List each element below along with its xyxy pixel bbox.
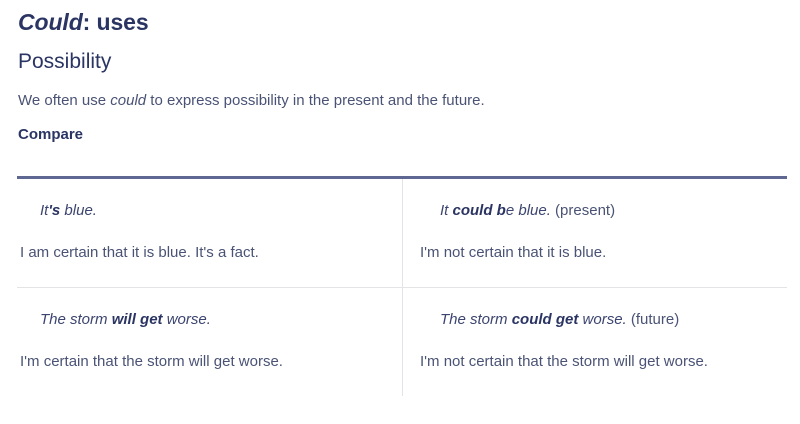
example-prefix: The storm bbox=[440, 311, 512, 328]
example-highlight: 's bbox=[48, 202, 60, 219]
example-sentence: It's blue. bbox=[20, 201, 388, 221]
page-title-term: Could bbox=[18, 9, 83, 35]
compare-label: Compare bbox=[13, 111, 787, 145]
intro-paragraph: We often use could to express possibilit… bbox=[13, 75, 787, 111]
example-suffix: worse. bbox=[578, 311, 626, 328]
example-sentence: The storm could get worse. (future) bbox=[420, 310, 773, 330]
example-highlight: could b bbox=[453, 202, 506, 219]
example-suffix: e blue. bbox=[506, 202, 551, 219]
tense-tag: (future) bbox=[627, 311, 680, 328]
grammar-article-page: Could: uses Possibility We often use cou… bbox=[0, 0, 800, 424]
compare-table: It's blue. I am certain that it is blue.… bbox=[17, 176, 787, 396]
example-suffix: worse. bbox=[163, 311, 211, 328]
example-sentence: It could be blue. (present) bbox=[420, 201, 773, 221]
section-heading-possibility: Possibility bbox=[13, 36, 787, 75]
page-title-rest: : uses bbox=[83, 9, 149, 35]
explanation-sentence: I'm certain that the storm will get wors… bbox=[20, 352, 388, 372]
example-prefix: It bbox=[440, 202, 453, 219]
explanation-sentence: I'm not certain that it is blue. bbox=[420, 243, 773, 263]
table-cell-certain-present: It's blue. I am certain that it is blue.… bbox=[17, 179, 402, 287]
example-highlight: could get bbox=[512, 311, 579, 328]
example-suffix: blue. bbox=[60, 202, 97, 219]
intro-text-after: to express possibility in the present an… bbox=[146, 92, 485, 109]
table-row: The storm will get worse. I'm certain th… bbox=[17, 287, 787, 396]
explanation-sentence: I'm not certain that the storm will get … bbox=[420, 352, 773, 372]
explanation-sentence: I am certain that it is blue. It's a fac… bbox=[20, 243, 388, 263]
intro-text-before: We often use bbox=[18, 92, 110, 109]
table-cell-certain-future: The storm will get worse. I'm certain th… bbox=[17, 288, 402, 396]
table-cell-possible-future: The storm could get worse. (future) I'm … bbox=[402, 288, 787, 396]
example-highlight: will get bbox=[112, 311, 163, 328]
table-cell-possible-present: It could be blue. (present) I'm not cert… bbox=[402, 179, 787, 287]
example-sentence: The storm will get worse. bbox=[20, 310, 388, 330]
tense-tag: (present) bbox=[551, 202, 615, 219]
table-row: It's blue. I am certain that it is blue.… bbox=[17, 179, 787, 287]
page-title: Could: uses bbox=[13, 0, 787, 36]
example-prefix: The storm bbox=[40, 311, 112, 328]
intro-emphasis-could: could bbox=[110, 92, 146, 109]
